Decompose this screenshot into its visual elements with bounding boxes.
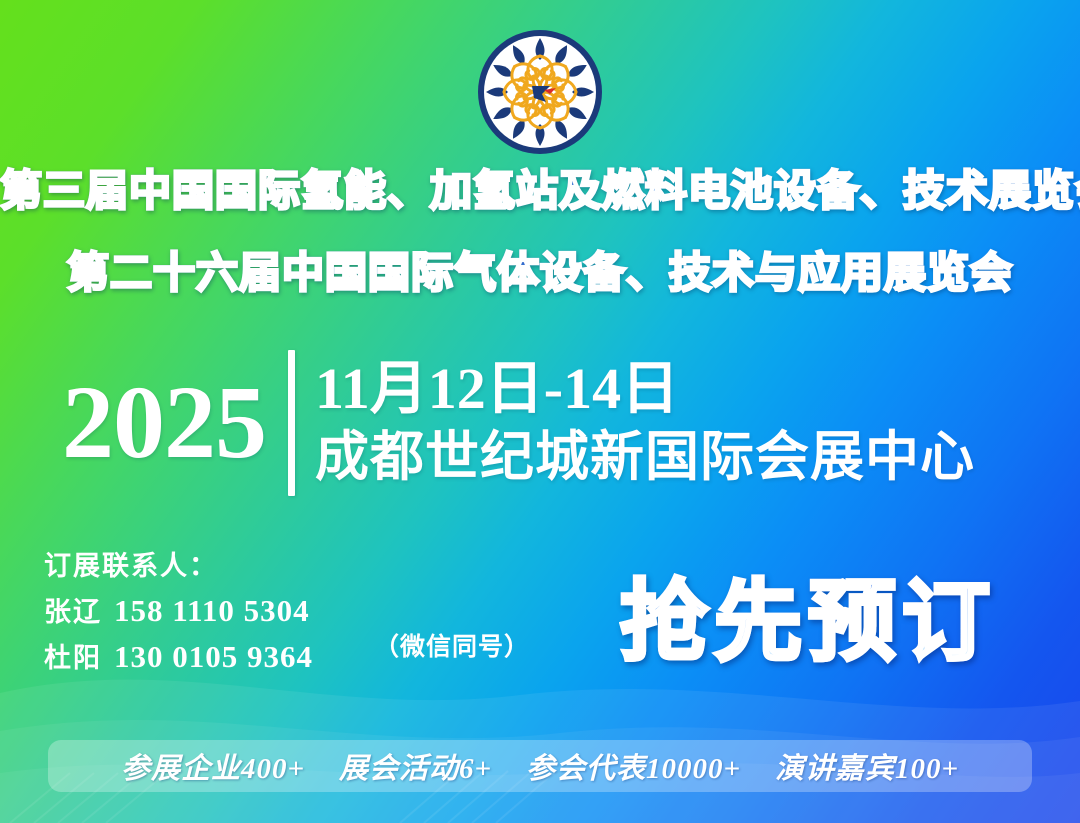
event-logo bbox=[476, 28, 604, 156]
headline-block: 第三届中国国际氢能、加氢站及燃料电池设备、技术展览会 第二十六届中国国际气体设备… bbox=[0, 160, 1080, 324]
contact-heading: 订展联系人： bbox=[44, 545, 313, 589]
cta-book-now[interactable]: 抢先预订 bbox=[620, 570, 996, 674]
stat-item: 演讲嘉宾100+ bbox=[775, 745, 959, 787]
circular-emblem-icon bbox=[476, 28, 604, 156]
contact-phone[interactable]: 130 0105 9364 bbox=[114, 639, 313, 674]
vertical-divider bbox=[288, 350, 295, 496]
date-venue-column: 11月12日-14日 成都世纪城新国际会展中心 bbox=[315, 355, 975, 491]
contact-phone[interactable]: 158 1110 5304 bbox=[114, 593, 310, 628]
exhibition-title-secondary: 第二十六届中国国际气体设备、技术与应用展览会 bbox=[0, 242, 1080, 304]
stat-item: 展会活动6+ bbox=[339, 745, 492, 787]
event-year: 2025 bbox=[62, 371, 288, 475]
event-venue: 成都世纪城新国际会展中心 bbox=[315, 423, 975, 491]
stat-item: 参会代表10000+ bbox=[526, 745, 741, 787]
event-date: 11月12日-14日 bbox=[315, 355, 975, 423]
contact-row: 张辽158 1110 5304 bbox=[44, 589, 313, 635]
stat-item: 参展企业400+ bbox=[121, 745, 305, 787]
contact-block: 订展联系人： 张辽158 1110 5304 杜阳130 0105 9364 bbox=[44, 545, 313, 681]
promo-banner: 第三届中国国际氢能、加氢站及燃料电池设备、技术展览会 第二十六届中国国际气体设备… bbox=[0, 0, 1080, 823]
wechat-note: （微信同号） bbox=[374, 627, 530, 663]
contact-row: 杜阳130 0105 9364 bbox=[44, 635, 313, 681]
date-venue-block: 2025 11月12日-14日 成都世纪城新国际会展中心 bbox=[62, 348, 975, 498]
stats-bar: 参展企业400+ 展会活动6+ 参会代表10000+ 演讲嘉宾100+ bbox=[48, 740, 1032, 792]
exhibition-title-primary: 第三届中国国际氢能、加氢站及燃料电池设备、技术展览会 bbox=[0, 160, 1080, 222]
contact-name: 杜阳 bbox=[44, 643, 102, 674]
contact-name: 张辽 bbox=[44, 597, 102, 628]
